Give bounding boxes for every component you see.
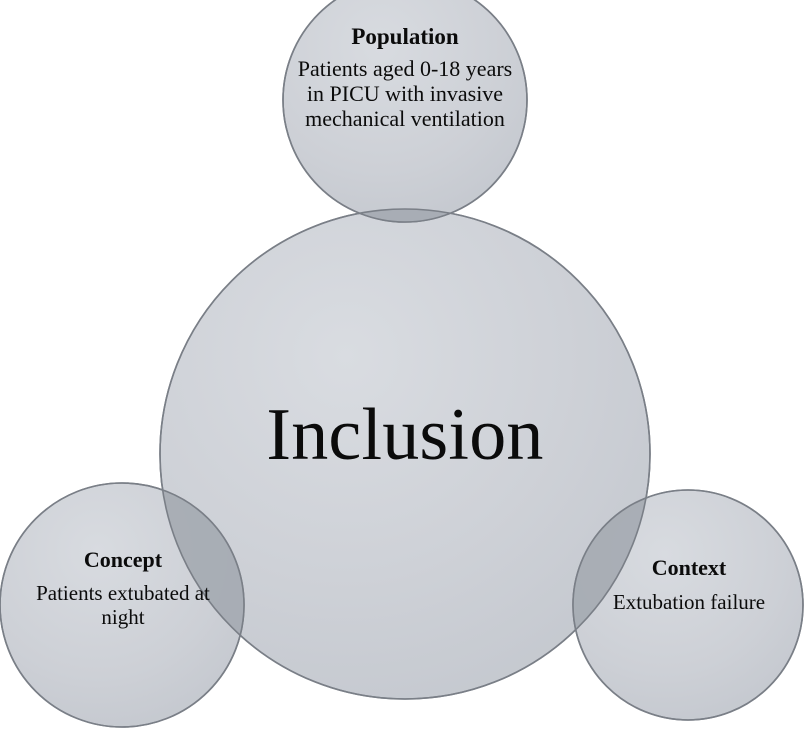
population-body: Patients aged 0-18 years in PICU with in… xyxy=(291,56,519,131)
venn-diagram: Inclusion Population Patients aged 0-18 … xyxy=(0,0,810,735)
node-label-context: Context Extubation failure xyxy=(586,556,792,614)
inclusion-title: Inclusion xyxy=(160,398,650,472)
context-title: Context xyxy=(586,556,792,581)
node-label-population: Population Patients aged 0-18 years in P… xyxy=(291,24,519,131)
context-body: Extubation failure xyxy=(586,590,792,615)
concept-body: Patients extubated at night xyxy=(12,581,234,631)
node-label-concept: Concept Patients extubated at night xyxy=(12,548,234,630)
population-title: Population xyxy=(291,24,519,50)
concept-title: Concept xyxy=(12,548,234,573)
node-label-inclusion: Inclusion xyxy=(160,398,650,472)
